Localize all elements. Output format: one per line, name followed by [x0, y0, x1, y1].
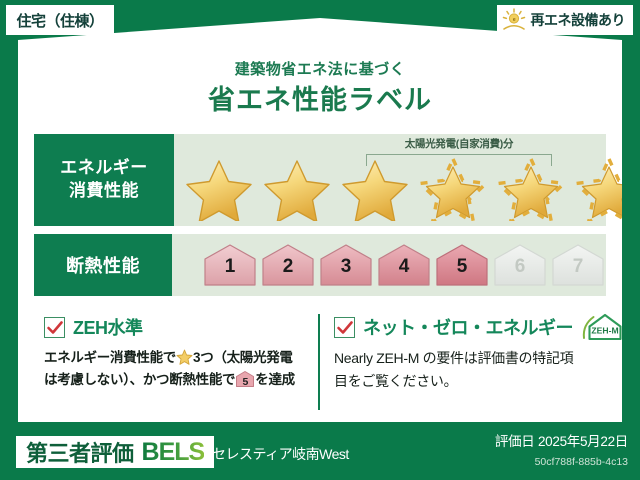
inline-house-number: 5	[235, 374, 255, 391]
zeh-m-logo-icon: ZEH-M Nearly ZEH-M	[581, 312, 639, 342]
bels-logo-text: BELS	[142, 438, 205, 467]
star-solar	[414, 157, 492, 221]
insulation-performance-label: 断熱性能	[34, 234, 172, 296]
zeh-desc-part-b: 3つ（太陽光発電	[193, 350, 293, 365]
insulation-level-number: 4	[376, 256, 432, 278]
star-solar	[570, 157, 640, 221]
insulation-level-5: 5	[434, 242, 490, 288]
insulation-level-number: 1	[202, 256, 258, 278]
inline-star-icon	[176, 349, 193, 365]
energy-performance-row: エネルギー 消費性能 太陽光発電(自家消費)分	[34, 134, 606, 226]
insulation-level-1: 1	[202, 242, 258, 288]
label-subtitle: 建築物省エネ法に基づく	[18, 58, 622, 79]
evaluation-date: 評価日 2025年5月22日	[495, 430, 628, 450]
insulation-label-text: 断熱性能	[66, 252, 140, 278]
sun-icon: e	[501, 8, 527, 32]
net-zero-title: ネット・ゼロ・エネルギー	[363, 314, 573, 340]
star-filled	[258, 157, 336, 221]
vertical-divider	[318, 314, 320, 410]
inline-house-icon: 5	[235, 370, 255, 388]
energy-label-line2: 消費性能	[69, 180, 139, 203]
insulation-performance-row: 断熱性能	[34, 234, 606, 296]
star-filled	[180, 157, 258, 221]
star-rating	[174, 156, 606, 222]
star-solar	[492, 157, 570, 221]
insulation-level-3: 3	[318, 242, 374, 288]
net-zero-description: Nearly ZEH-M の要件は評価書の特記項 目をご覧ください。	[334, 347, 606, 392]
building-type-text: 住宅（住棟）	[16, 10, 103, 31]
svg-text:Nearly: Nearly	[624, 326, 637, 331]
insulation-level-number: 6	[492, 256, 548, 278]
zeh-standard-checkbox[interactable]	[44, 317, 65, 338]
net-zero-desc-a: Nearly ZEH-M の要件は評価書の特記項	[334, 350, 573, 366]
renewable-badge-text: 再エネ設備あり	[531, 10, 626, 30]
insulation-level-number: 3	[318, 256, 374, 278]
zeh-standard-header: ZEH水準	[44, 314, 336, 340]
zeh-standard-block: ZEH水準 エネルギー消費性能で 3つ（太陽光発電 は考慮しない）、かつ断熱性能…	[44, 314, 336, 391]
zeh-standard-description: エネルギー消費性能で 3つ（太陽光発電 は考慮しない）、かつ断熱性能で 5 を達…	[44, 347, 336, 391]
svg-text:ZEH-M: ZEH-M	[624, 331, 638, 336]
energy-stars-area: 太陽光発電(自家消費)分	[174, 134, 606, 226]
zeh-desc-part-a: エネルギー消費性能で	[44, 350, 176, 365]
star-filled	[336, 157, 414, 221]
net-zero-desc-b: 目をご覧ください。	[334, 373, 457, 389]
insulation-level-7: 7	[550, 242, 606, 288]
solar-caption: 太陽光発電(自家消費)分	[352, 136, 566, 151]
insulation-level-number: 7	[550, 256, 606, 278]
renewable-equipment-badge: e 再エネ設備あり	[497, 5, 634, 35]
energy-label-root: 住宅（住棟） e 再エネ設備あり 建築物省エネ法に基づく 省エネ性能ラベル	[0, 0, 640, 480]
label-panel: 建築物省エネ法に基づく 省エネ性能ラベル エネルギー 消費性能 太陽光発電(自家…	[18, 18, 622, 422]
zeh-desc-part-c: は考慮しない）、かつ断熱性能で	[44, 372, 235, 387]
bels-certification-badge: 第三者評価 BELS	[16, 436, 214, 468]
energy-performance-label: エネルギー 消費性能	[34, 134, 174, 226]
net-zero-header: ネット・ゼロ・エネルギー ZEH-M Nearly ZEH-M	[334, 314, 606, 340]
insulation-level-number: 5	[434, 256, 490, 278]
zeh-standard-title: ZEH水準	[73, 314, 143, 340]
insulation-level-4: 4	[376, 242, 432, 288]
net-zero-checkbox[interactable]	[334, 317, 355, 338]
building-name: セレスティア岐南West	[212, 444, 349, 464]
energy-label-line1: エネルギー	[60, 157, 148, 180]
svg-text:ZEH-M: ZEH-M	[591, 326, 618, 336]
third-party-eval-text: 第三者評価	[26, 436, 134, 468]
insulation-level-number: 2	[260, 256, 316, 278]
building-type-tag: 住宅（住棟）	[6, 5, 114, 35]
insulation-level-6: 6	[492, 242, 548, 288]
label-title: 省エネ性能ラベル	[18, 78, 622, 117]
evaluation-id: 50cf788f-885b-4c13	[535, 456, 628, 468]
net-zero-energy-block: ネット・ゼロ・エネルギー ZEH-M Nearly ZEH-M Nearly Z…	[334, 314, 606, 392]
insulation-levels-area: 1 2 3	[172, 234, 606, 296]
zeh-desc-part-d: を達成	[255, 372, 295, 387]
insulation-level-2: 2	[260, 242, 316, 288]
